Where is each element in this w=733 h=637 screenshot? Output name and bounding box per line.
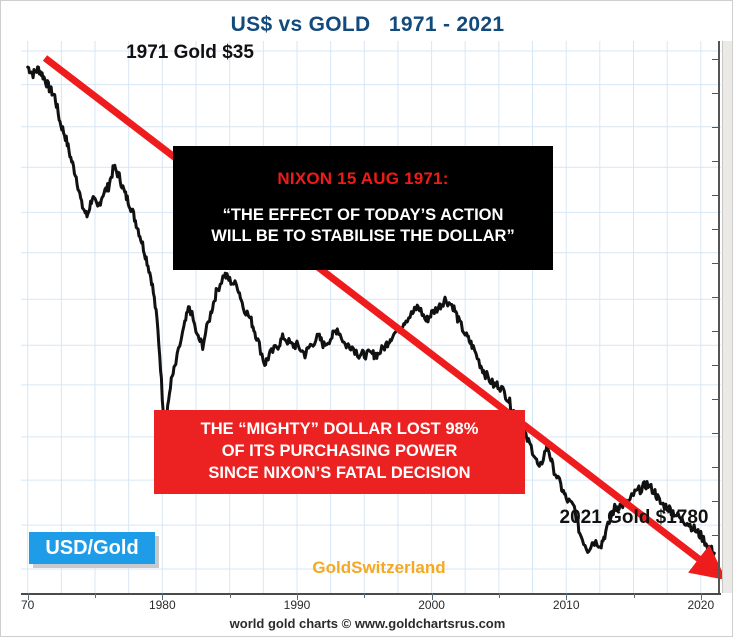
right-axis-tick (712, 433, 720, 434)
annotation-end-label: 2021 Gold $1780 (539, 506, 729, 529)
dollar-loss-callout-text: THE “MIGHTY” DOLLAR LOST 98% OF ITS PURC… (201, 419, 479, 485)
legend-badge-usd-gold[interactable]: USD/Gold (29, 532, 155, 564)
x-tick-label-2010: 2010 (553, 598, 580, 612)
watermark-goldswitzerland: GoldSwitzerland (249, 558, 509, 578)
right-axis-tick (712, 297, 720, 298)
nixon-quote-box: NIXON 15 AUG 1971: “THE EFFECT OF TODAY’… (173, 146, 553, 270)
page-title: US$ vs GOLD 1971 - 2021 (1, 13, 733, 37)
x-tick-label-2000: 2000 (418, 598, 445, 612)
x-tick-label-1980: 1980 (149, 598, 176, 612)
right-axis-tick (712, 127, 720, 128)
right-axis-tick (712, 59, 720, 60)
right-axis-tick (712, 501, 720, 502)
x-tick-label-1970: 70 (21, 598, 34, 612)
x-tick-label-2020: 2020 (687, 598, 714, 612)
right-axis-tick (712, 263, 720, 264)
nixon-quote-text: “THE EFFECT OF TODAY’S ACTION WILL BE TO… (211, 205, 514, 248)
nixon-quote-heading: NIXON 15 AUG 1971: (277, 169, 448, 189)
right-axis-tick (712, 535, 720, 536)
x-tick-label-1990: 1990 (284, 598, 311, 612)
chart-page: US$ vs GOLD 1971 - 2021 7019801990200020… (0, 0, 733, 637)
right-axis-tick (712, 569, 720, 570)
right-axis-tick (712, 365, 720, 366)
annotation-start-label: 1971 Gold $35 (105, 41, 275, 64)
right-axis-tick (712, 399, 720, 400)
right-axis-tick (712, 467, 720, 468)
x-axis-labels: 7019801990200020102020 (1, 598, 733, 618)
footer-credit: world gold charts © www.goldchartsrus.co… (1, 616, 733, 631)
right-axis-tick (712, 331, 720, 332)
legend-badge-label: USD/Gold (45, 537, 138, 560)
right-axis-tick (712, 93, 720, 94)
dollar-loss-callout-box: THE “MIGHTY” DOLLAR LOST 98% OF ITS PURC… (154, 410, 525, 494)
right-axis-tick (712, 229, 720, 230)
right-axis-tick (712, 195, 720, 196)
right-axis-tick (712, 161, 720, 162)
